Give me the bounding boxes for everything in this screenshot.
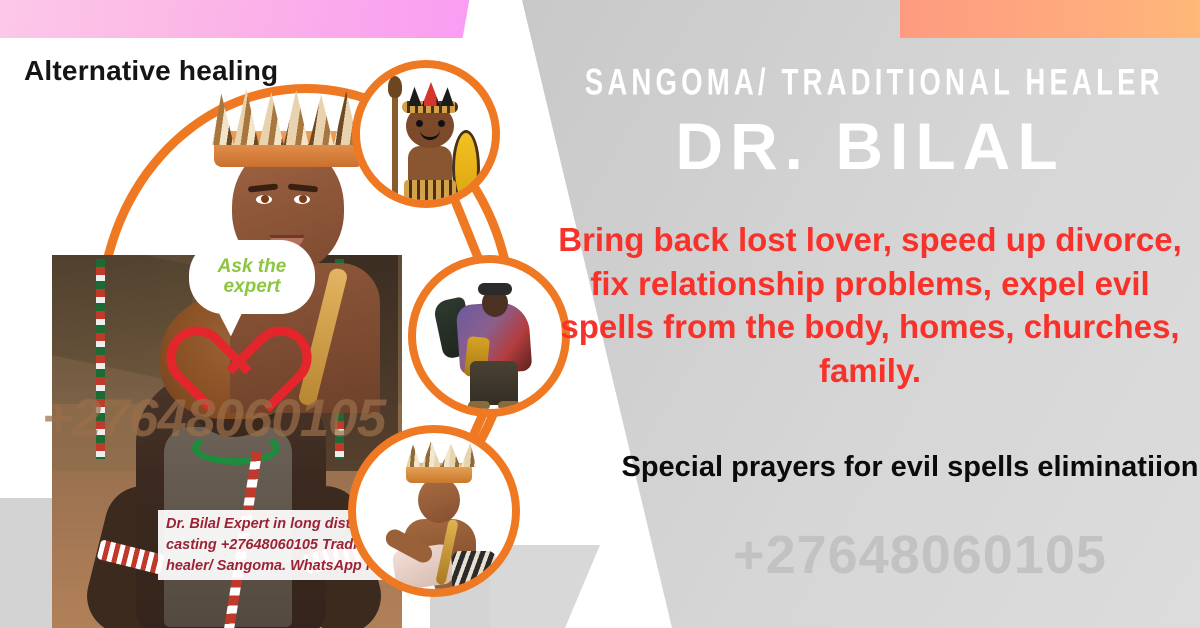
poster-canvas: Alternative healing: [0, 0, 1200, 628]
kneeling-warrior-fur-tail: [452, 551, 496, 591]
special-prayers-text: Special prayers for evil spells eliminat…: [620, 448, 1200, 487]
figure-pupil-left: [261, 195, 269, 203]
page-title: DR. BILAL: [560, 108, 1180, 184]
circle-image-zulu-warrior: [352, 60, 500, 208]
services-description: Bring back lost lover, speed up divorce,…: [540, 218, 1200, 392]
warrior-eye-left: [416, 120, 423, 127]
speech-bubble-label: Ask the expert: [192, 257, 312, 297]
cloaked-figure-hat: [478, 283, 512, 295]
warrior-plume: [408, 82, 454, 106]
kicker-text: SANGOMA/ TRADITIONAL HEALER: [585, 62, 1155, 105]
speech-bubble: Ask the expert: [192, 243, 312, 311]
warrior-leg-left: [414, 200, 427, 208]
kneeling-warrior-head: [418, 477, 460, 523]
orange-accent-bar: [900, 0, 1200, 38]
figure-pupil-right: [299, 195, 307, 203]
cloaked-figure-shoe-right: [498, 401, 520, 410]
warrior-spear-shaft: [392, 84, 398, 208]
warrior-shield: [452, 130, 480, 206]
grey-slab-left: [0, 498, 52, 628]
cloaked-figure-trousers: [470, 361, 518, 405]
photo-watermark-phone: +27648060105: [42, 388, 442, 449]
contact-phone-number: +27648060105: [640, 524, 1200, 586]
warrior-skirt: [404, 180, 456, 202]
cloaked-figure-shoe-left: [468, 401, 490, 410]
warrior-eye-right: [438, 120, 445, 127]
circle-image-kneeling-warrior: [348, 425, 520, 597]
alternative-healing-heading: Alternative healing: [24, 55, 278, 87]
pink-accent-bar: [0, 0, 470, 38]
warrior-spear-tip: [388, 76, 402, 98]
